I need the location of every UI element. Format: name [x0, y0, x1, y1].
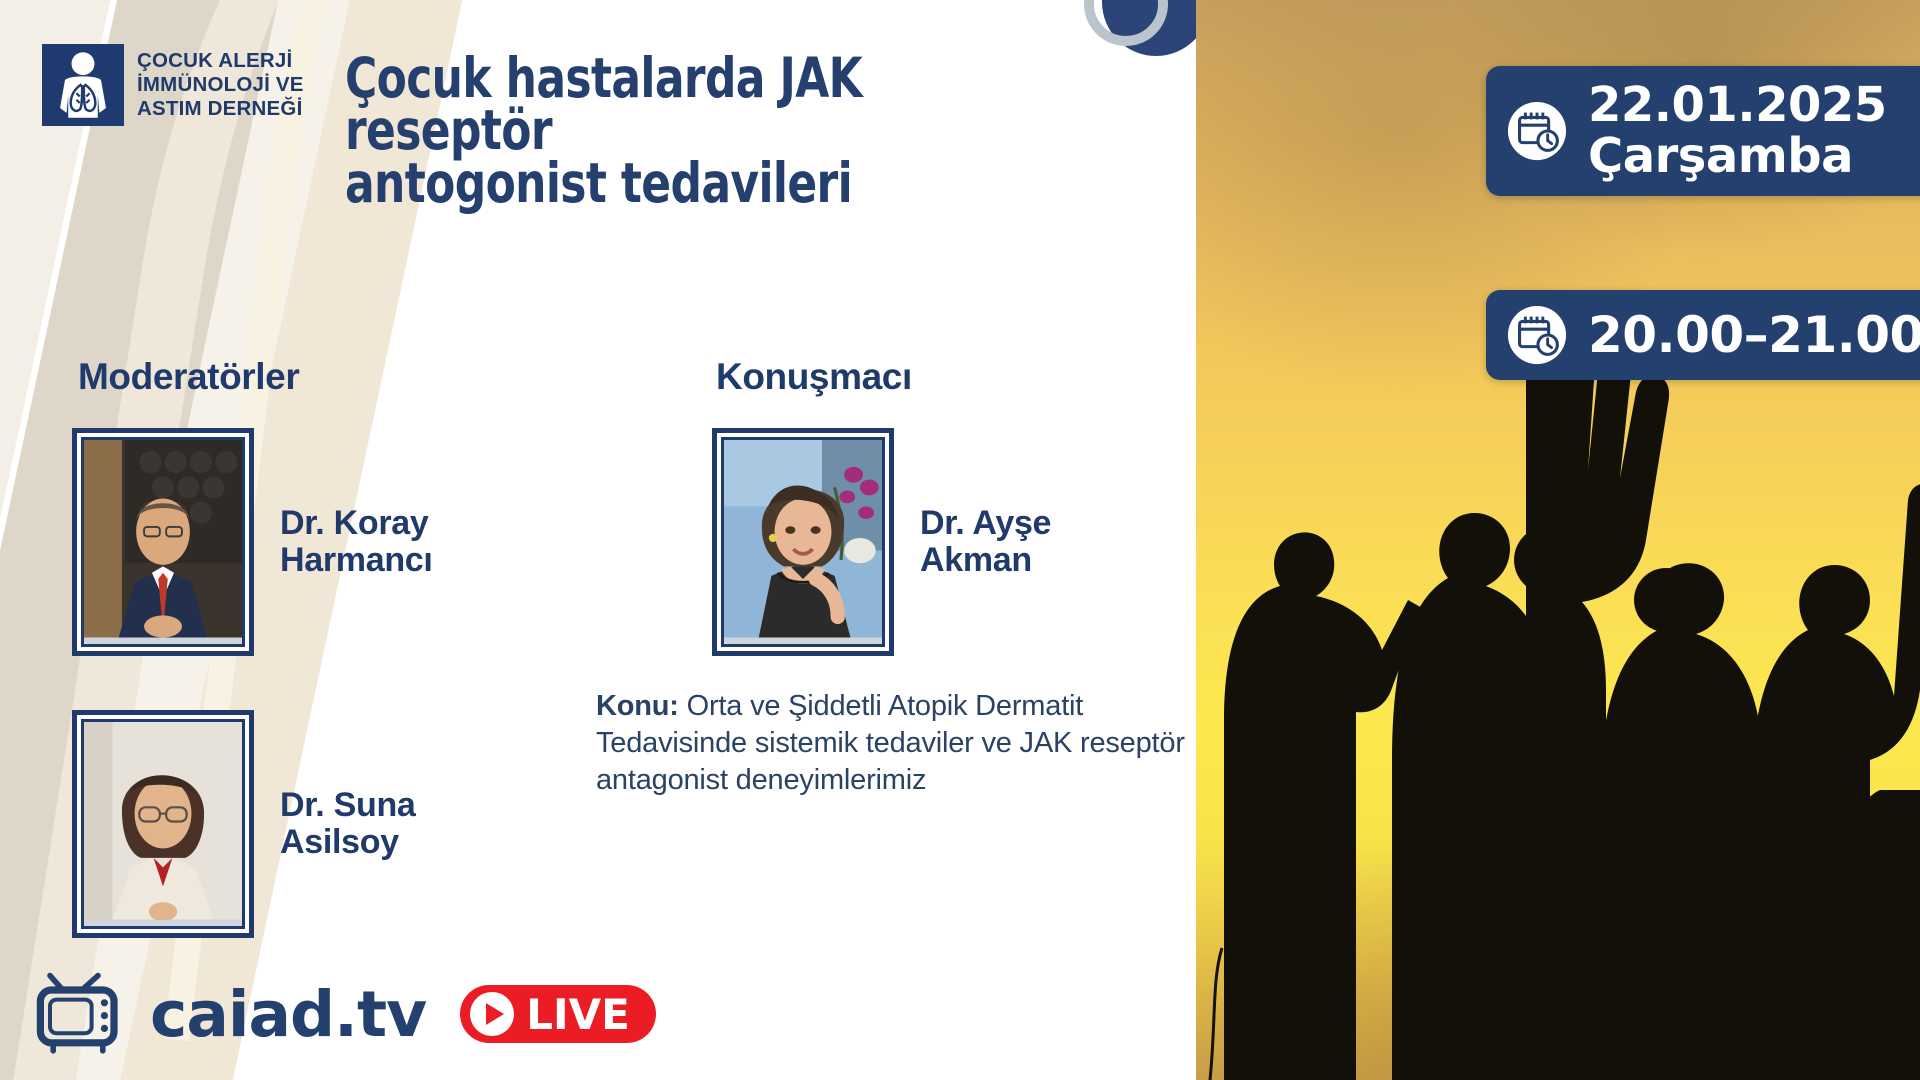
association-logo-icon — [42, 44, 124, 126]
topic-label: Konu: — [596, 690, 679, 722]
speaker-name: Dr. Ayşe Akman — [920, 505, 1051, 580]
moderators-heading: Moderatörler — [78, 356, 299, 398]
moderator-2: Dr. Suna Asilsoy — [72, 710, 416, 938]
topic-body: Orta ve Şiddetli Atopik Dermatit Tedavis… — [596, 690, 1185, 796]
moderator-1-photo-frame — [72, 428, 254, 656]
play-icon — [470, 992, 514, 1036]
organization-name: ÇOCUK ALERJİ İMMÜNOLOJİ VE ASTIM DERNEĞİ — [137, 49, 304, 122]
calendar-clock-icon — [1506, 304, 1568, 366]
hero-image-panel: 22.01.2025 Çarşamba 20.00–21.00 — [1196, 0, 1920, 1080]
time-badge: 20.00–21.00 — [1486, 290, 1920, 380]
webinar-poster: ÇOCUK ALERJİ İMMÜNOLOJİ VE ASTIM DERNEĞİ… — [0, 0, 1920, 1080]
calendar-clock-icon — [1506, 100, 1568, 162]
portrait-suna-asilsoy — [84, 722, 242, 920]
brand-footer: caiad.tv LIVE — [34, 972, 656, 1056]
live-label: LIVE — [526, 990, 630, 1039]
moderator-2-name: Dr. Suna Asilsoy — [280, 787, 416, 862]
portrait-koray-harmanci — [84, 440, 242, 638]
organization-logo-block: ÇOCUK ALERJİ İMMÜNOLOJİ VE ASTIM DERNEĞİ — [42, 44, 304, 126]
portrait-ayse-akman — [724, 440, 882, 638]
event-date: 22.01.2025 Çarşamba — [1588, 80, 1887, 182]
television-icon — [34, 972, 130, 1056]
speaker-photo-frame — [712, 428, 894, 656]
moderator-2-photo-frame — [72, 710, 254, 938]
decorative-circles — [1084, 0, 1196, 88]
speaker: Dr. Ayşe Akman — [712, 428, 1051, 656]
page-title: Çocuk hastalarda JAK reseptör antogonist… — [345, 52, 985, 209]
event-time: 20.00–21.00 — [1588, 309, 1920, 362]
topic-text: Konu: Orta ve Şiddetli Atopik Dermatit T… — [596, 688, 1186, 799]
live-badge[interactable]: LIVE — [460, 985, 656, 1043]
brand-name[interactable]: caiad.tv — [150, 978, 426, 1051]
speaker-heading: Konuşmacı — [716, 356, 912, 398]
moderator-1: Dr. Koray Harmancı — [72, 428, 433, 656]
info-panel: ÇOCUK ALERJİ İMMÜNOLOJİ VE ASTIM DERNEĞİ… — [0, 0, 1196, 1080]
date-badge: 22.01.2025 Çarşamba — [1486, 66, 1920, 196]
moderator-1-name: Dr. Koray Harmancı — [280, 505, 433, 580]
